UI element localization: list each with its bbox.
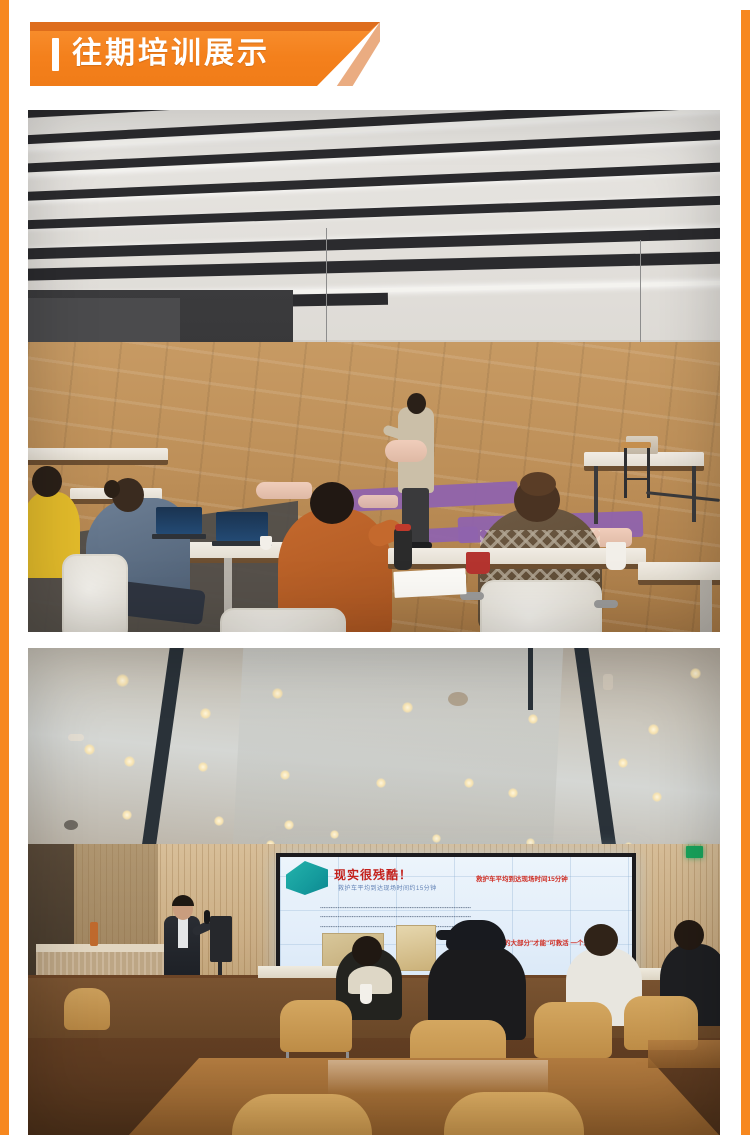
downlight (508, 788, 518, 798)
promo-page: 往期培训展示 (0, 0, 750, 1135)
audience-head (352, 936, 382, 966)
speaker-shirt (178, 918, 188, 948)
wooden-chair (280, 1000, 352, 1052)
downlight (272, 688, 283, 699)
downlight (402, 702, 413, 713)
wooden-chair (534, 1002, 612, 1058)
paper-sheet (424, 574, 466, 592)
banner-content: 往期培训展示 (30, 22, 380, 86)
bottle-cap (395, 524, 411, 531)
downlight (284, 820, 294, 830)
side-table (648, 1040, 720, 1068)
photo-2-scene: 现实很残酷！ 救护车平均到达现场时间约15分钟 救护车平均到达现场时间15分钟 … (28, 648, 720, 1135)
foreground-table-reflection (328, 1060, 548, 1094)
security-camera (64, 820, 78, 830)
pendant-wire (326, 228, 327, 344)
table-leg (700, 580, 712, 632)
downlight (330, 830, 339, 839)
downlight (690, 668, 701, 679)
chair-back (480, 580, 602, 632)
vertical-bar-icon (52, 38, 59, 71)
downlight (376, 778, 386, 788)
downlight (84, 744, 95, 755)
slide-subtitle: 救护车平均到达现场时间约15分钟 (338, 883, 437, 892)
table-leg (692, 466, 696, 522)
slide-portrait-image (396, 925, 436, 971)
audience-cap-brim (436, 930, 456, 940)
downlight (124, 756, 135, 767)
gallery-photo-1 (28, 110, 720, 632)
ceiling-beam (528, 648, 533, 710)
downlight (122, 810, 132, 820)
chair-armrest (594, 600, 618, 608)
foreground-chair (232, 1094, 372, 1135)
pendant-wire (640, 240, 641, 352)
audience-head (584, 924, 618, 956)
instructor-head (407, 393, 426, 414)
chair-back (62, 554, 128, 632)
participant-head (32, 466, 62, 497)
laptop (156, 507, 202, 534)
cpr-manikin (256, 482, 312, 499)
slide-note-right: 救护车平均到达现场时间15分钟 (476, 873, 568, 883)
downlight (464, 778, 474, 788)
smoke-detector (68, 734, 84, 741)
downlight (618, 758, 628, 768)
ceiling-sprinkler (603, 674, 613, 690)
presenter-table (584, 452, 704, 471)
right-accent-bar (741, 10, 750, 1135)
cpr-manikin (358, 495, 398, 508)
bar-stool-footrest (624, 478, 650, 480)
slide-title: 现实很残酷！ (334, 866, 412, 883)
chair-back (220, 608, 346, 632)
downlight (280, 770, 290, 780)
participant-hair-bun (520, 472, 556, 496)
table-leg (594, 466, 598, 524)
downlight (648, 724, 659, 735)
coffee-cup (606, 542, 626, 570)
audience-head (674, 920, 704, 950)
ceiling-vent (448, 692, 468, 706)
water-bottle (394, 528, 412, 570)
infant-manikin-held (385, 440, 427, 462)
table-lamp (90, 922, 98, 946)
exit-sign-icon (686, 846, 703, 858)
paper-cup (260, 536, 272, 550)
cup-on-table (360, 984, 372, 1004)
participant-hair-bun (104, 480, 120, 498)
gallery-photo-2: 现实很残酷！ 救护车平均到达现场时间约15分钟 救护车平均到达现场时间15分钟 … (28, 648, 720, 1135)
downlight (214, 816, 224, 826)
downlight (528, 714, 538, 724)
section-header-banner: 往期培训展示 (30, 22, 380, 86)
page-title: 往期培训展示 (72, 39, 270, 69)
laptop-keyboard (152, 534, 206, 539)
student-table (28, 448, 168, 465)
foreground-chair (444, 1092, 584, 1135)
photo-1-scene (28, 110, 720, 632)
downlight (200, 708, 211, 719)
bar-stool-leg (624, 448, 627, 498)
table-runner (36, 944, 164, 952)
participant-head (310, 482, 354, 524)
av-speaker-stand (210, 916, 232, 962)
downlight (116, 674, 129, 687)
red-mug (466, 552, 490, 574)
wooden-chair (64, 988, 110, 1030)
left-accent-bar (0, 0, 9, 1135)
downlight (198, 762, 208, 772)
downlight (652, 792, 662, 802)
ceiling-panel (233, 648, 563, 848)
downlight (432, 834, 441, 843)
